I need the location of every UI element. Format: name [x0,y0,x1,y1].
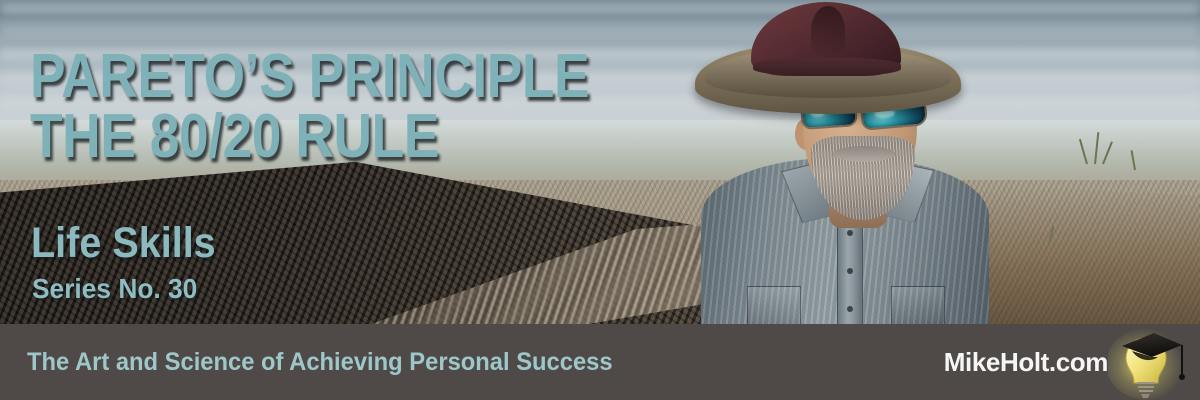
lightbulb-graduation-cap-icon [1108,324,1192,400]
headline-line-2: THE 80/20 RULE [30,107,589,167]
portrait-photo-man-in-cowboy-hat [695,0,995,330]
promo-banner: PARETO’S PRINCIPLE THE 80/20 RULE Life S… [0,0,1200,400]
shirt-pocket-right [891,286,945,326]
mustache [833,146,895,162]
series-title: Life Skills [31,222,216,265]
page-title: PARETO’S PRINCIPLE THE 80/20 RULE [30,47,589,167]
shirt-button [847,230,853,236]
brand-name: MikeHolt.com [944,347,1108,378]
shirt-button [847,306,853,312]
shirt-pocket-left [747,286,801,326]
series-number: Series No. 30 [32,275,197,303]
hat-band [753,58,901,76]
tagline: The Art and Science of Achieving Persona… [27,348,613,377]
headline-line-1: PARETO’S PRINCIPLE [30,42,589,111]
shirt-button [847,268,853,274]
bottom-bar: The Art and Science of Achieving Persona… [0,324,1200,400]
brand-lockup[interactable]: MikeHolt.com [944,324,1192,400]
cloud-band [0,4,1200,14]
hat-crease [811,6,845,56]
